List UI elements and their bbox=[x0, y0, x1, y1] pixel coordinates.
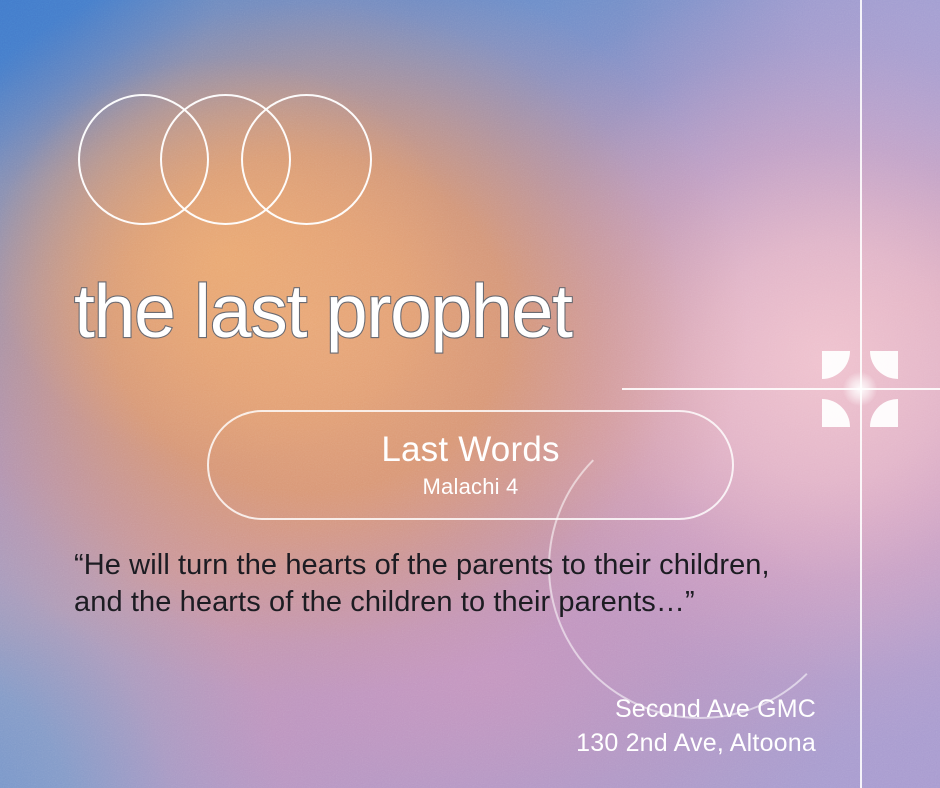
organization-address: 130 2nd Ave, Altoona bbox=[576, 726, 816, 760]
footer-block: Second Ave GMC 130 2nd Ave, Altoona bbox=[576, 692, 816, 760]
series-title: Last Words bbox=[381, 432, 559, 467]
logo-circle-right bbox=[241, 94, 372, 225]
organization-name: Second Ave GMC bbox=[576, 692, 816, 726]
three-overlapping-circles-icon bbox=[78, 92, 372, 228]
scripture-quote: “He will turn the hearts of the parents … bbox=[74, 547, 814, 621]
four-point-sparkle-icon bbox=[822, 351, 898, 427]
sermon-graphic-canvas: the last prophet Last Words Malachi 4 “H… bbox=[0, 0, 940, 788]
series-pill: Last Words Malachi 4 bbox=[207, 410, 734, 520]
page-title: the last prophet bbox=[74, 274, 834, 349]
scripture-reference: Malachi 4 bbox=[423, 476, 519, 498]
